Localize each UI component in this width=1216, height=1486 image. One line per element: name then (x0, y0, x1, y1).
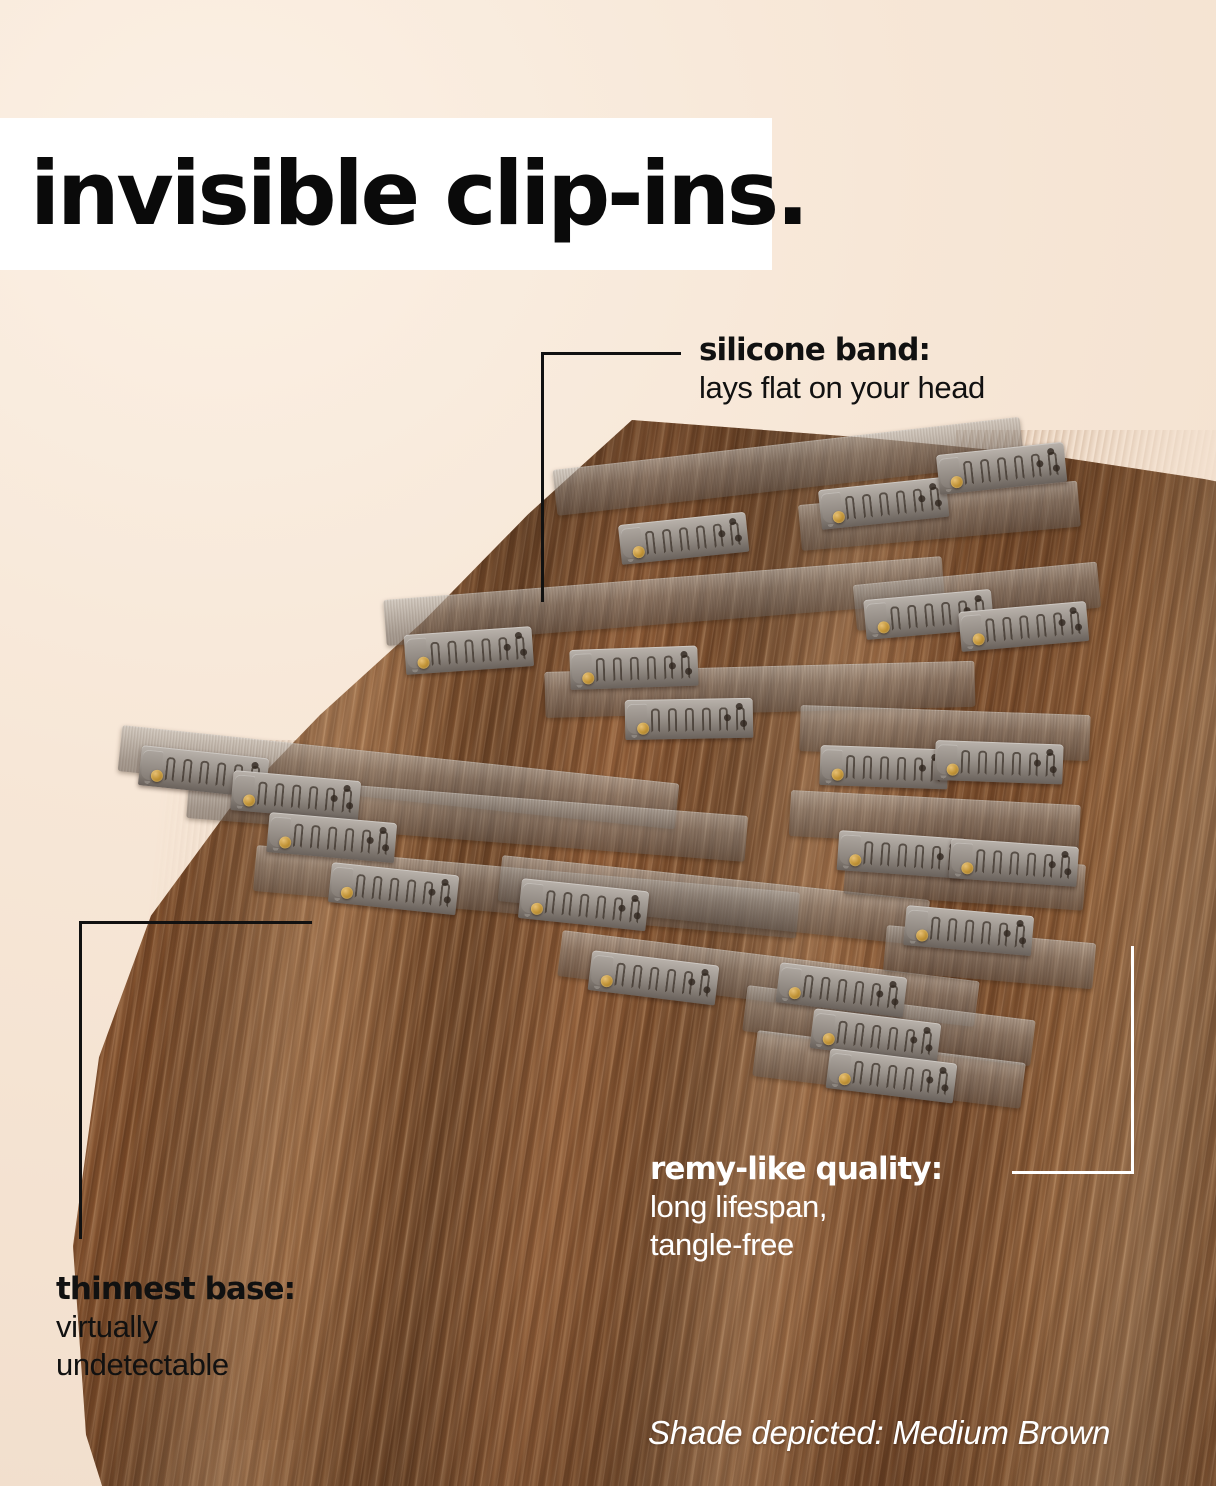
annotation-heading: thinnest base: (56, 1272, 295, 1308)
page-title: invisible clip-ins. (0, 150, 806, 238)
leader-line-vertical (541, 352, 544, 602)
snap-clip (625, 698, 754, 740)
title-banner: invisible clip-ins. (0, 118, 772, 270)
snap-clip (819, 745, 948, 789)
snap-clip (404, 626, 534, 675)
annotation-body-line: long lifespan, (650, 1188, 942, 1226)
snap-clip (934, 740, 1063, 784)
leader-line-horizontal (79, 921, 312, 924)
annotation-silicone-band: silicone band: lays flat on your head (699, 333, 985, 407)
leader-line-vertical (1131, 946, 1134, 1174)
shade-caption: Shade depicted: Medium Brown (648, 1414, 1110, 1452)
snap-clip (837, 830, 967, 879)
annotation-thinnest-base: thinnest base: virtually undetectable (56, 1272, 295, 1384)
annotation-body-line: virtually (56, 1308, 295, 1346)
snap-clip (569, 646, 698, 690)
annotation-heading: remy-like quality: (650, 1152, 942, 1188)
annotation-body-line: tangle-free (650, 1226, 942, 1264)
clip-hinge-dot (724, 714, 731, 721)
infographic-canvas: invisible clip-ins. silicone band: lays … (0, 0, 1216, 1486)
annotation-body-line: undetectable (56, 1346, 295, 1384)
leader-line-thinnest-base (79, 921, 312, 1239)
snap-clip (949, 838, 1079, 887)
annotation-remy-quality: remy-like quality: long lifespan, tangle… (650, 1152, 942, 1264)
clip-hinge-dot (736, 703, 743, 710)
annotation-body-line: lays flat on your head (699, 369, 985, 407)
leader-line-remy-quality (1012, 946, 1134, 1174)
clip-teeth (631, 733, 747, 745)
leader-line-horizontal (1012, 1171, 1134, 1174)
annotation-heading: silicone band: (699, 333, 985, 369)
leader-line-silicone-band (541, 352, 681, 602)
leader-line-vertical (79, 921, 82, 1239)
leader-line-horizontal (541, 352, 681, 355)
